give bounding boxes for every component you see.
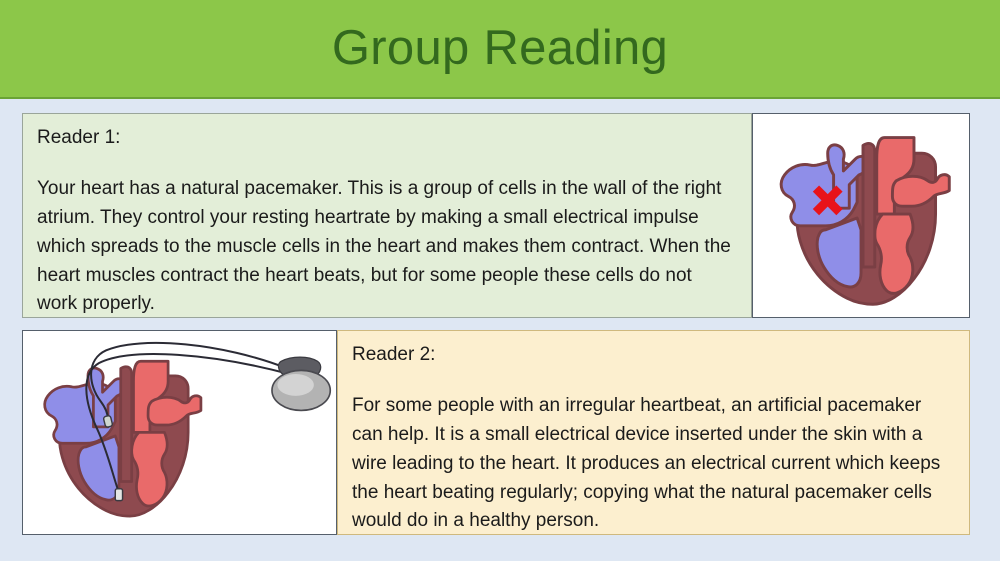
heart-red-ventricle xyxy=(132,432,168,506)
ventricular-electrode-tip xyxy=(115,489,122,501)
reader2-label: Reader 2: xyxy=(352,345,953,366)
pacemaker-device xyxy=(272,357,330,410)
page-title: Group Reading xyxy=(332,24,668,73)
heart-septum-vessel xyxy=(863,143,875,267)
reader2-panel: Reader 2: For some people with an irregu… xyxy=(337,330,970,535)
heart-artificial-pacemaker-panel xyxy=(22,330,337,535)
reader1-body-text: Your heart has a natural pacemaker. This… xyxy=(37,175,733,319)
heart-natural-pacemaker-panel xyxy=(752,113,970,318)
heart-red-aortic-arch xyxy=(148,396,201,425)
heart-natural-pacemaker-diagram xyxy=(753,114,969,317)
heart-red-aortic-arch xyxy=(892,175,949,207)
reader2-body-text: For some people with an irregular heartb… xyxy=(352,392,953,536)
heart-artificial-pacemaker-diagram xyxy=(23,331,336,534)
reader1-panel: Reader 1: Your heart has a natural pacem… xyxy=(22,113,752,318)
pacemaker-body-highlight xyxy=(277,374,313,396)
reader1-label: Reader 1: xyxy=(37,128,733,149)
title-banner: Group Reading xyxy=(0,0,1000,99)
heart-septum-vessel xyxy=(121,367,132,482)
heart-red-ventricle xyxy=(875,214,913,293)
slide-canvas: Group Reading Reader 1: Your heart has a… xyxy=(0,0,1000,561)
